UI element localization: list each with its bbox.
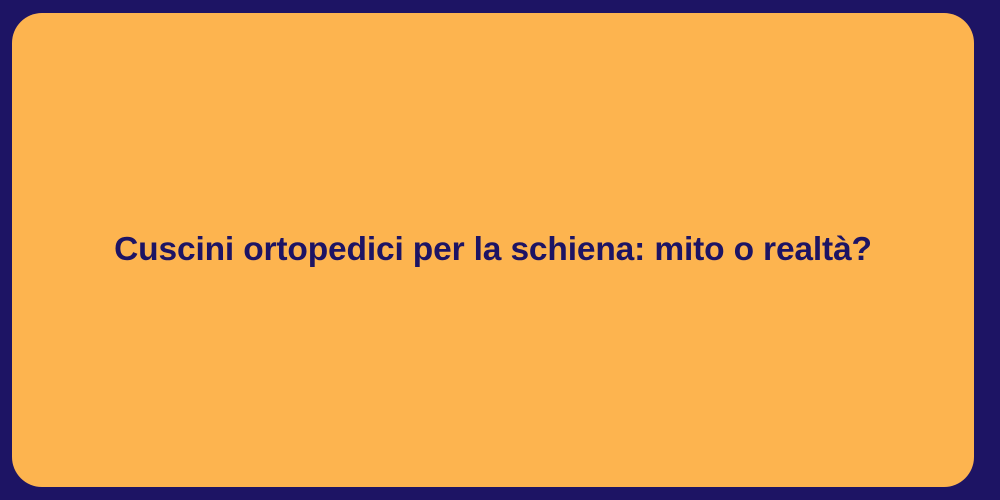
content-card: Cuscini ortopedici per la schiena: mito … <box>12 13 974 487</box>
page-title: Cuscini ortopedici per la schiena: mito … <box>114 229 872 271</box>
card-content: Cuscini ortopedici per la schiena: mito … <box>12 229 974 271</box>
page-background: Cuscini ortopedici per la schiena: mito … <box>0 0 1000 500</box>
